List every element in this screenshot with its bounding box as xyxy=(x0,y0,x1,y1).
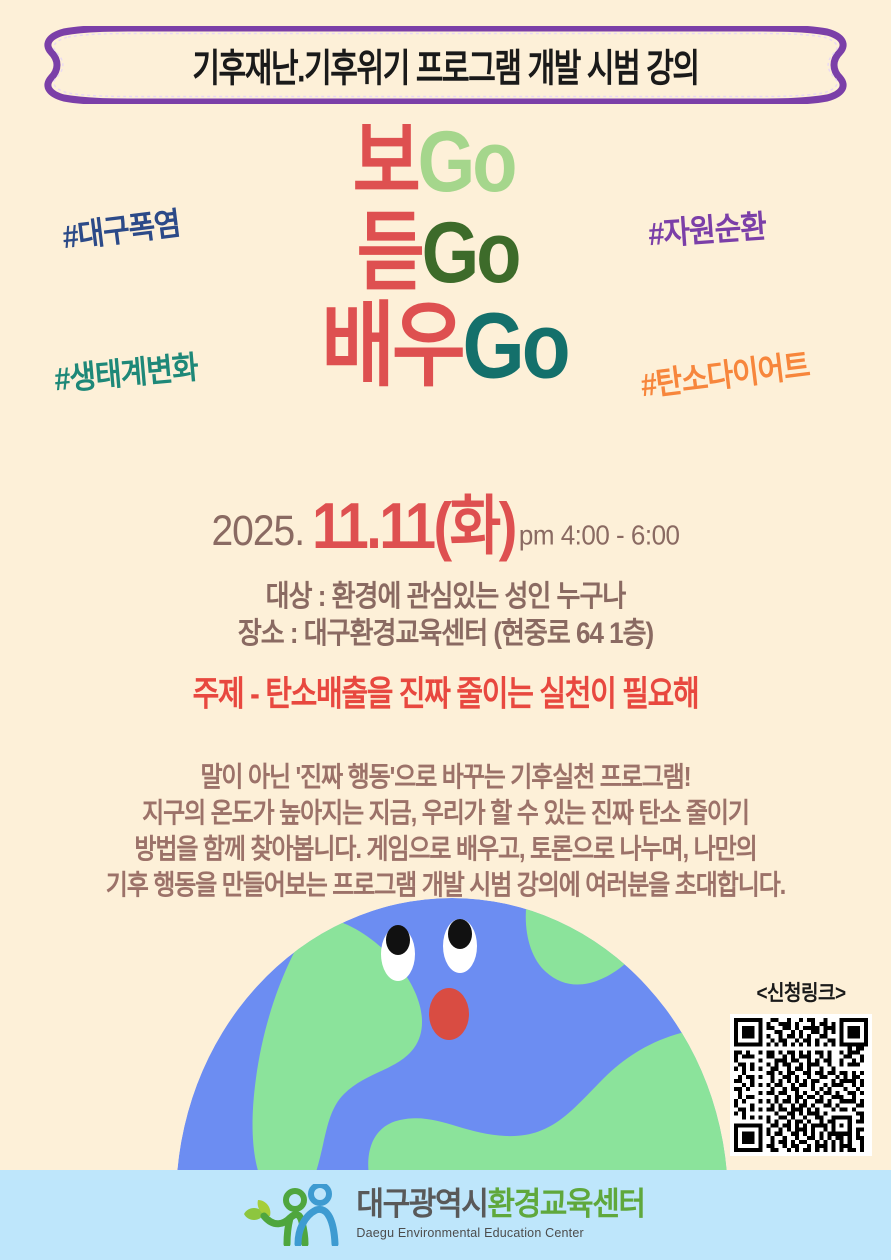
footer-bar: 대구광역시환경교육센터 Daegu Environmental Educatio… xyxy=(0,1170,891,1260)
organization-name-kr-center: 환경교육센터 xyxy=(487,1187,644,1222)
event-year: 2025. xyxy=(211,508,304,556)
logo-baeu-kr: 배우 xyxy=(321,294,462,397)
figure-green-leg xyxy=(287,1218,290,1244)
logo-deut-kr: 듣 xyxy=(357,204,422,300)
description-paragraph: 말이 아닌 '진짜 행동'으로 바꾸는 기후실천 프로그램! 지구의 온도가 높… xyxy=(0,760,891,904)
hashtag-resource-circulation: #자원순환 xyxy=(647,201,768,255)
qr-label: <신청링크> xyxy=(726,977,876,1007)
description-line-1: 말이 아닌 '진짜 행동'으로 바꾸는 기후실천 프로그램! xyxy=(0,757,891,798)
logo-line-bo: 보Go xyxy=(0,120,891,202)
info-venue: 장소 : 대구환경교육센터 (현중로 64 1층) xyxy=(0,612,891,654)
figure-blue-head xyxy=(311,1185,329,1203)
logo-bo-go: Go xyxy=(418,113,515,209)
header-banner: 기후재난.기후위기 프로그램 개발 시범 강의 xyxy=(42,26,849,104)
info-audience: 대상 : 환경에 관심있는 성인 누구나 xyxy=(0,575,891,617)
globe-mouth xyxy=(429,988,469,1040)
figure-green-head xyxy=(286,1191,304,1209)
logo-baeu-go: Go xyxy=(463,294,568,397)
earth-character-illustration xyxy=(176,898,728,1198)
poster-root: 기후재난.기후위기 프로그램 개발 시범 강의 보Go 듣Go 배우Go #대구… xyxy=(0,0,891,1260)
registration-qr-code[interactable] xyxy=(730,1014,872,1156)
description-line-2: 지구의 온도가 높아지는 지금, 우리가 할 수 있는 진짜 탄소 줄이기 xyxy=(0,793,891,834)
daegu-eec-logo-icon xyxy=(238,1184,342,1246)
theme-headline: 주제 - 탄소배출을 진짜 줄이는 실천이 필요해 xyxy=(0,666,891,716)
event-time: pm 4:00 - 6:00 xyxy=(519,519,680,552)
organization-logo: 대구광역시환경교육센터 Daegu Environmental Educatio… xyxy=(238,1184,644,1246)
organization-name-kr-city: 대구광역시 xyxy=(356,1187,487,1222)
banner-title: 기후재난.기후위기 프로그램 개발 시범 강의 xyxy=(42,15,849,115)
organization-name-en: Daegu Environmental Education Center xyxy=(356,1227,644,1240)
event-date-row: 2025. 11.11(화) pm 4:00 - 6:00 xyxy=(0,480,891,561)
organization-name-kr: 대구광역시환경교육센터 xyxy=(356,1189,644,1221)
event-date: 11.11(화) xyxy=(312,474,515,568)
event-info: 대상 : 환경에 관심있는 성인 누구나 장소 : 대구환경교육센터 (현중로 … xyxy=(0,578,891,652)
logo-bo-kr: 보 xyxy=(353,113,418,209)
organization-name: 대구광역시환경교육센터 Daegu Environmental Educatio… xyxy=(356,1190,644,1240)
globe-continent-topright xyxy=(526,898,658,984)
qr-section: <신청링크> xyxy=(726,978,876,1161)
description-line-3: 방법을 함께 찾아봅니다. 게임으로 배우고, 토론으로 나누며, 나만의 xyxy=(0,829,891,870)
logo-deut-go: Go xyxy=(422,204,519,300)
globe-pupil-right xyxy=(448,919,472,949)
globe-pupil-left xyxy=(386,925,410,955)
